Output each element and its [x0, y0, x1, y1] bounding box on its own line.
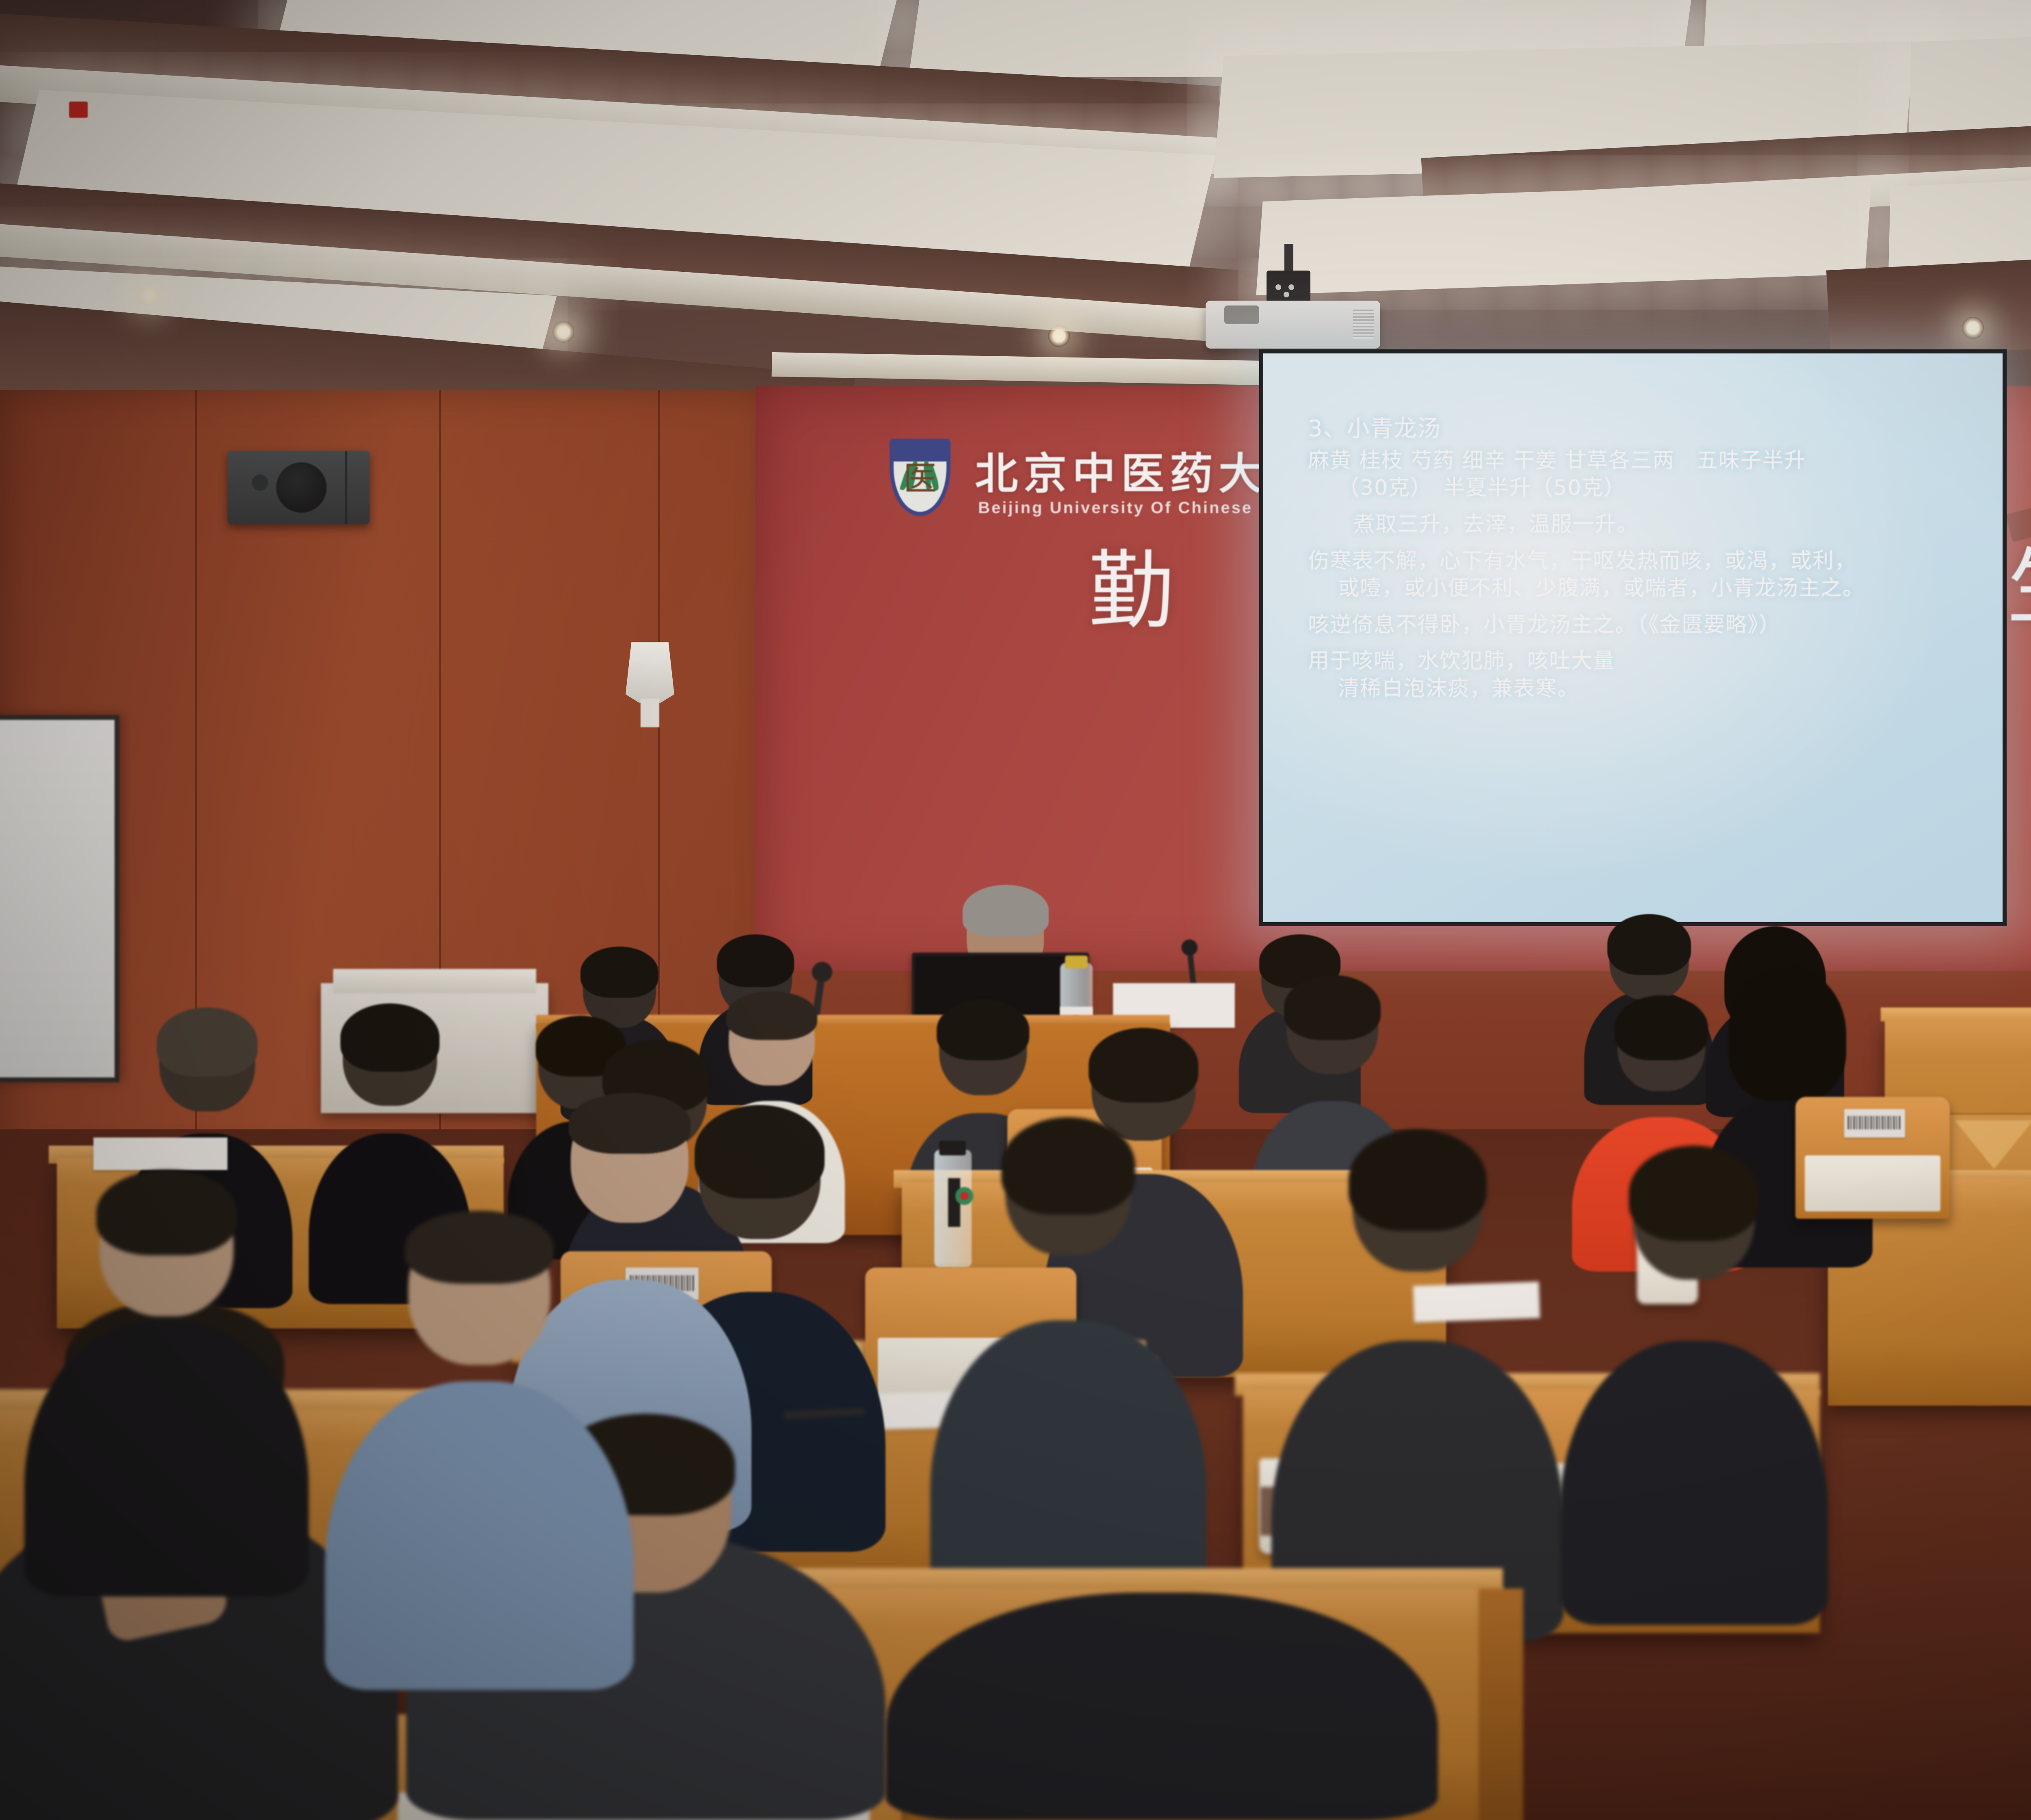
slide-content: 3、小青龙汤 麻黄 桂枝 芍药 细辛 干姜 甘草各三两 五味子半升 （30克） …	[1263, 353, 2003, 922]
ceiling-spotlight	[138, 284, 160, 306]
ceiling-spotlight	[1962, 317, 1984, 339]
wall-sconce-lamp	[626, 642, 674, 703]
audience-member	[1271, 1129, 1564, 1641]
asset-barcode-label	[1844, 1109, 1905, 1137]
paper-sheet	[93, 1137, 227, 1170]
wall-sconce-stem	[641, 699, 659, 727]
university-logo-icon: 医	[890, 439, 951, 516]
slide-title: 3、小青龙汤	[1308, 414, 1966, 444]
desk-side	[1479, 1588, 1523, 1820]
audience-member	[24, 1170, 309, 1597]
banner-motto-left: 勤	[1089, 548, 1174, 634]
wall-speaker-icon	[227, 451, 370, 524]
slide-line: 煮取三升，去滓，温服一升。	[1308, 511, 1966, 539]
slide-line: 咳逆倚息不得卧，小青龙汤主之。（《金匮要略》）	[1308, 611, 1966, 639]
side-desk-top	[1881, 1007, 2031, 1021]
whiteboard	[0, 715, 119, 1082]
projection-screen: 3、小青龙汤 麻黄 桂枝 芍药 细辛 干姜 甘草各三两 五味子半升 （30克） …	[1259, 349, 2007, 926]
logo-glyph: 医	[903, 462, 937, 496]
slide-line: 麻黄 桂枝 芍药 细辛 干姜 甘草各三两 五味子半升	[1308, 447, 1966, 475]
slide-line: 伤寒表不解，心下有水气，干呕发热而咳，或渴，或利，	[1308, 548, 1966, 575]
slide-line: 清稀白泡沫痰，兼表寒。	[1308, 675, 1966, 703]
slide-line: 用于咳喘，水饮犯肺，咳吐大量	[1308, 648, 1966, 675]
banner-motto-right: 生	[2007, 544, 2031, 630]
presenter-badge	[69, 102, 88, 118]
audience-member	[325, 1211, 634, 1690]
slide-line: （30克） 半夏半升（50克）	[1308, 474, 1966, 502]
audience-member-front	[886, 1592, 1438, 1820]
bottle-cap	[1065, 955, 1088, 968]
ceiling-spotlight	[1048, 325, 1070, 347]
projector-lens-icon	[1224, 305, 1259, 324]
audience-member	[930, 1117, 1206, 1605]
audience-member	[1560, 1146, 1828, 1625]
ceiling-spotlight	[552, 321, 574, 343]
lecture-hall-photograph: 勤 生 医 北京中医药大学 Beijing University Of Chin…	[0, 0, 2031, 1820]
lectern-top	[333, 969, 536, 993]
slide-line: 或噎，或小便不利、少腹满，或喘者，小青龙汤主之。	[1308, 575, 1966, 602]
